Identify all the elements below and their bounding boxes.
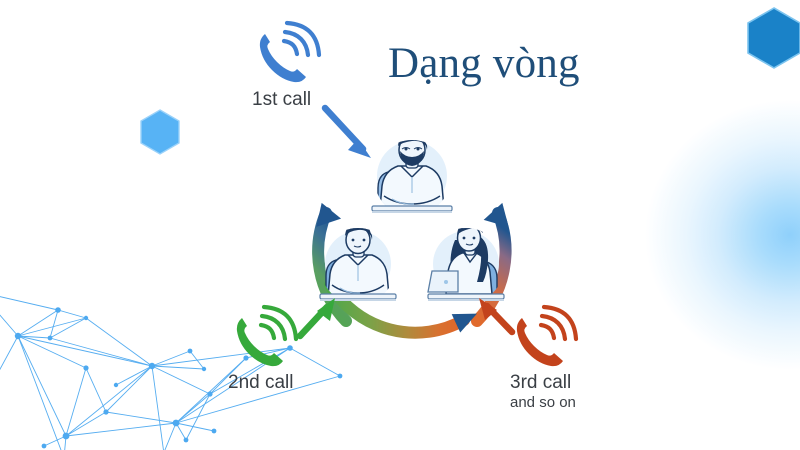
phone-call-icon-first [251,18,323,86]
participant-top-bearded-man [372,133,452,213]
call-label-second: 2nd call [228,371,294,395]
slide-canvas: Dạng vòng 1st call 2nd call 3rd call and… [0,0,800,450]
laptop-icon [428,271,458,292]
phone-call-icon-third [508,302,580,370]
participant-right-woman [428,222,504,301]
page-title: Dạng vòng [388,36,688,92]
call-label-first: 1st call [252,88,311,112]
call-sublabel-third: and so on [510,393,576,412]
participant-left-man [320,223,396,301]
call-label-third: 3rd call [510,371,571,395]
phone-call-icon-second [228,302,300,370]
